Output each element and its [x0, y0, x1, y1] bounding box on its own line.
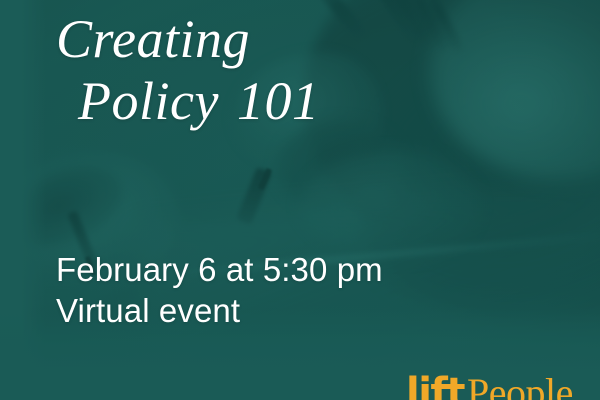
- content-layer: Creating Policy101 February 6 at 5:30 pm…: [0, 0, 600, 400]
- event-title-subject: Policy: [78, 71, 219, 131]
- event-title-line-1: Creating: [56, 8, 319, 70]
- brand-logo: lift People: [406, 373, 573, 400]
- event-details: February 6 at 5:30 pm Virtual event: [56, 249, 383, 331]
- event-title-level: 101: [237, 71, 320, 131]
- brand-logo-wordmark: People: [467, 373, 573, 400]
- brand-logo-mark: lift: [406, 373, 464, 400]
- event-format: Virtual event: [56, 290, 383, 331]
- promo-graphic-canvas: Creating Policy101 February 6 at 5:30 pm…: [0, 0, 600, 400]
- event-date-time: February 6 at 5:30 pm: [56, 249, 383, 290]
- event-title: Creating Policy101: [56, 8, 319, 132]
- event-title-line-2: Policy101: [56, 70, 319, 132]
